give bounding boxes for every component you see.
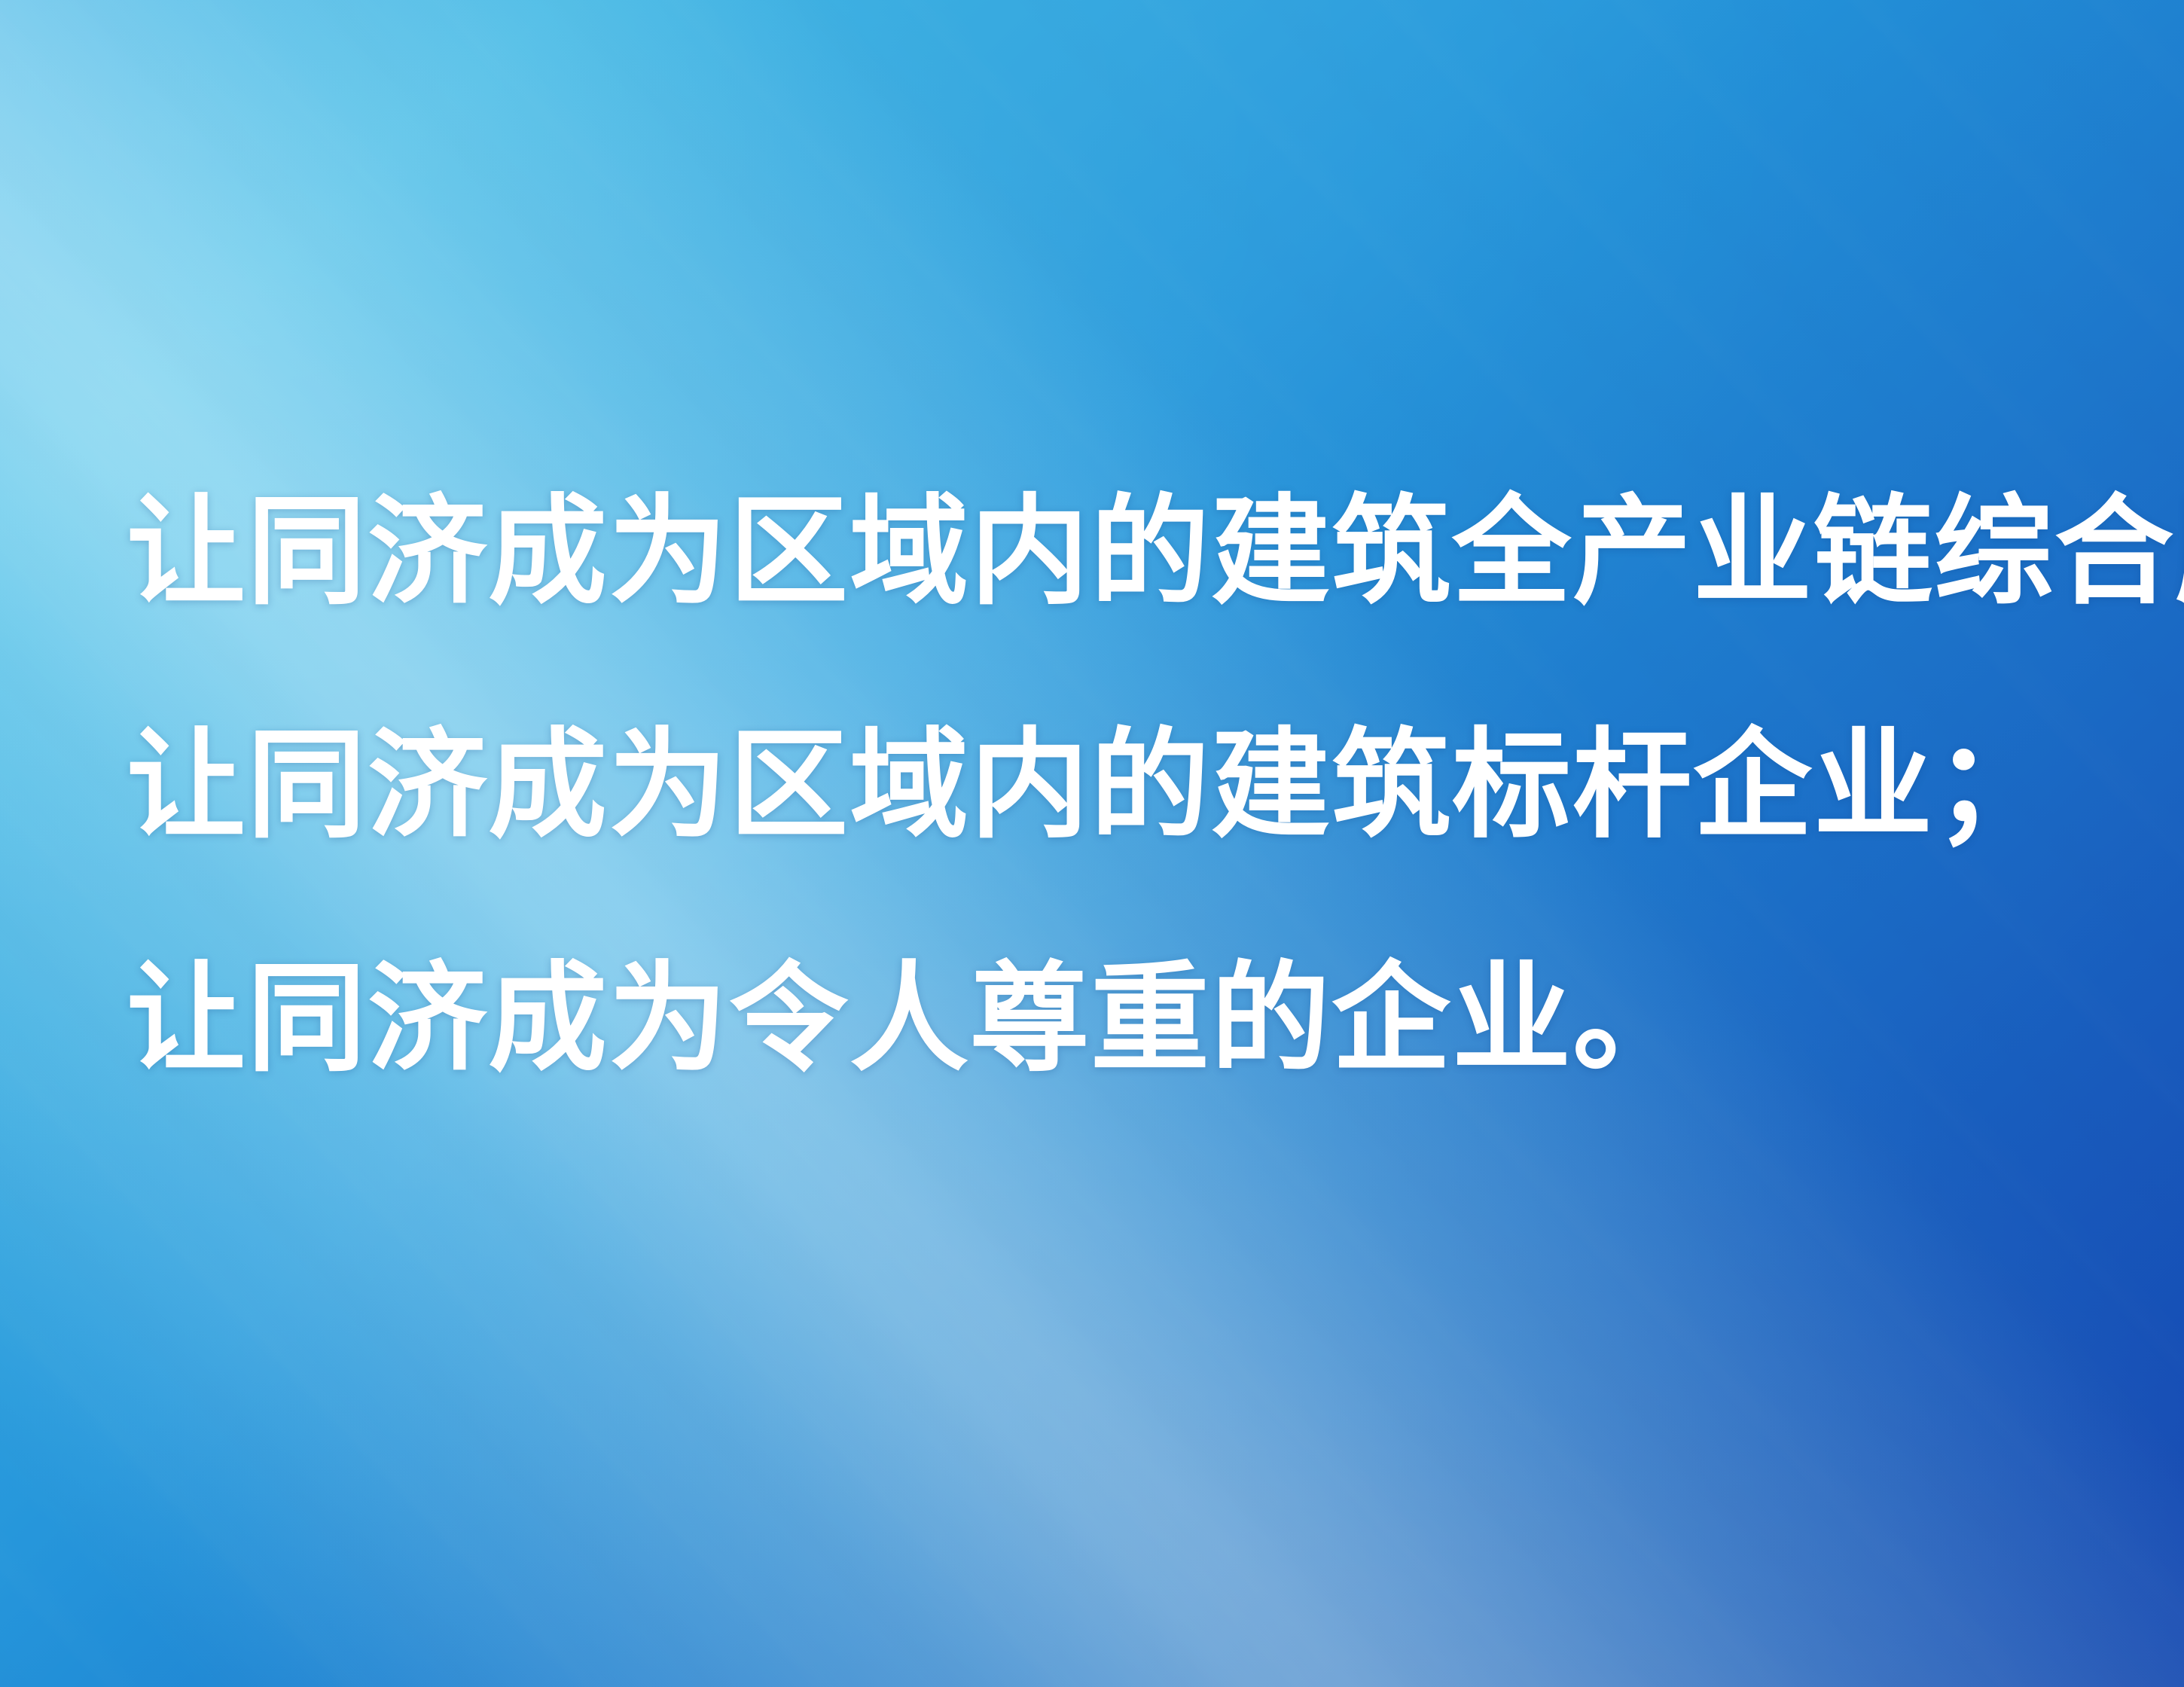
presentation-slide: 让同济成为区域内的建筑全产业链综合服务商； 让同济成为区域内的建筑标杆企业； 让…	[0, 0, 2184, 1687]
slogan-line-3: 让同济成为令人尊重的企业。	[127, 902, 2100, 1136]
slogan-line-2: 让同济成为区域内的建筑标杆企业；	[127, 669, 2100, 902]
slogan-line-1: 让同济成为区域内的建筑全产业链综合服务商；	[127, 435, 2100, 669]
slogan-text-block: 让同济成为区域内的建筑全产业链综合服务商； 让同济成为区域内的建筑标杆企业； 让…	[127, 435, 2100, 1136]
